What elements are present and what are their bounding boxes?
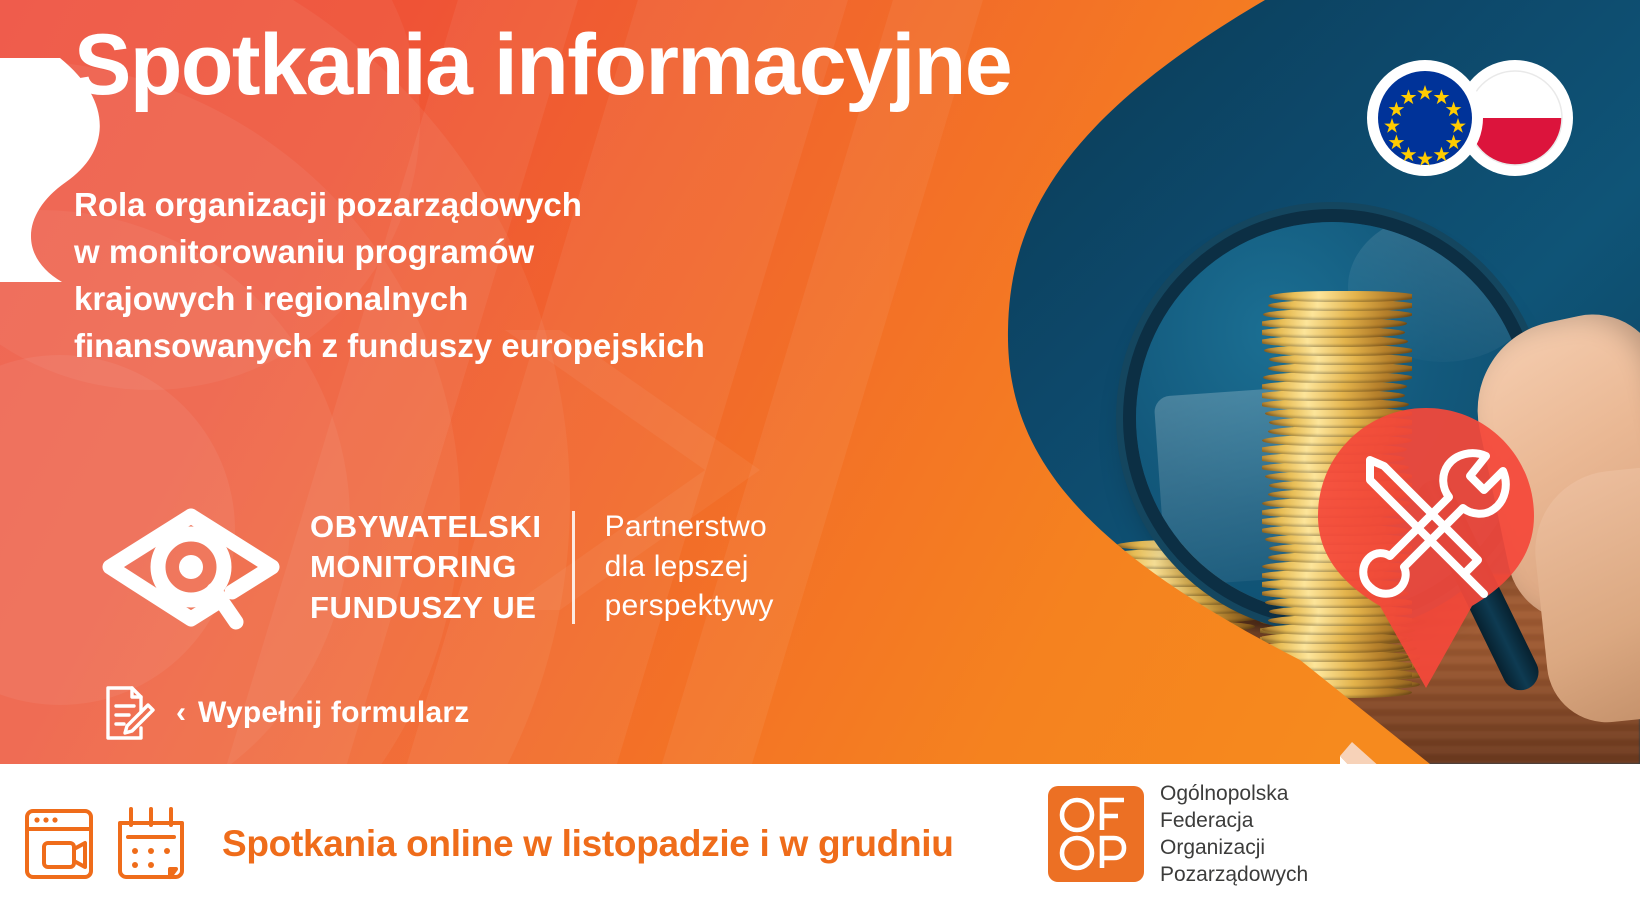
fill-form-label: Wypełnij formularz [198, 696, 469, 730]
ofop-logo: Ogólnopolska Federacja Organizacji Pozar… [1048, 780, 1308, 888]
logo-tagline: Partnerstwo dla lepszej perspektywy [605, 507, 774, 628]
eu-poland-flag-badges [1350, 58, 1590, 178]
fill-form-cta[interactable]: ‹ Wypełnij formularz [96, 682, 469, 744]
logo-tagline-line: perspektywy [605, 586, 774, 626]
ofop-name-line: Pozarządowych [1160, 861, 1308, 888]
logo-tagline-line: Partnerstwo [605, 507, 774, 547]
ofop-name-line: Organizacji [1160, 834, 1308, 861]
calendar-icon [114, 803, 188, 885]
logo-name-line: MONITORING [310, 547, 542, 587]
ofop-mark-icon [1048, 786, 1144, 882]
ofop-name-line: Ogólnopolska [1160, 780, 1308, 807]
promo-banner: Spotkania informacyjne Rola organizacji … [0, 0, 1640, 924]
subtitle-line: Rola organizacji pozarządowych [74, 182, 705, 229]
coin [1269, 291, 1412, 302]
subtitle-line: krajowych i regionalnych [74, 276, 705, 323]
online-meeting-video-icon [22, 803, 96, 885]
logo-divider [572, 511, 575, 624]
logo-wordmark: OBYWATELSKI MONITORING FUNDUSZY UE Partn… [310, 507, 774, 628]
logo-name-line: FUNDUSZY UE [310, 588, 542, 628]
subtitle-line: w monitorowaniu programów [74, 229, 705, 276]
bottom-info-bar: Spotkania online w listopadzie i w grudn… [0, 764, 1640, 924]
obywatelski-monitoring-logo: OBYWATELSKI MONITORING FUNDUSZY UE Partn… [96, 500, 774, 635]
tools-map-pin-icon [1318, 408, 1534, 688]
ofop-name: Ogólnopolska Federacja Organizacji Pozar… [1160, 780, 1308, 888]
bottom-bar-label: Spotkania online w listopadzie i w grudn… [222, 823, 954, 865]
logo-name-line: OBYWATELSKI [310, 507, 542, 547]
subtitle-line: finansowanych z funduszy europejskich [74, 323, 705, 370]
eye-magnifier-icon [96, 500, 286, 635]
eu-flag-icon [1367, 60, 1483, 176]
ofop-name-line: Federacja [1160, 807, 1308, 834]
form-document-pencil-icon [96, 682, 158, 744]
logo-tagline-line: dla lepszej [605, 547, 774, 587]
banner-subtitle: Rola organizacji pozarządowych w monitor… [74, 182, 705, 369]
chevron-left-icon: ‹ [176, 698, 186, 728]
bottom-bar-icons [22, 803, 188, 885]
banner-title: Spotkania informacyjne [74, 22, 1011, 110]
logo-name: OBYWATELSKI MONITORING FUNDUSZY UE [310, 507, 542, 628]
